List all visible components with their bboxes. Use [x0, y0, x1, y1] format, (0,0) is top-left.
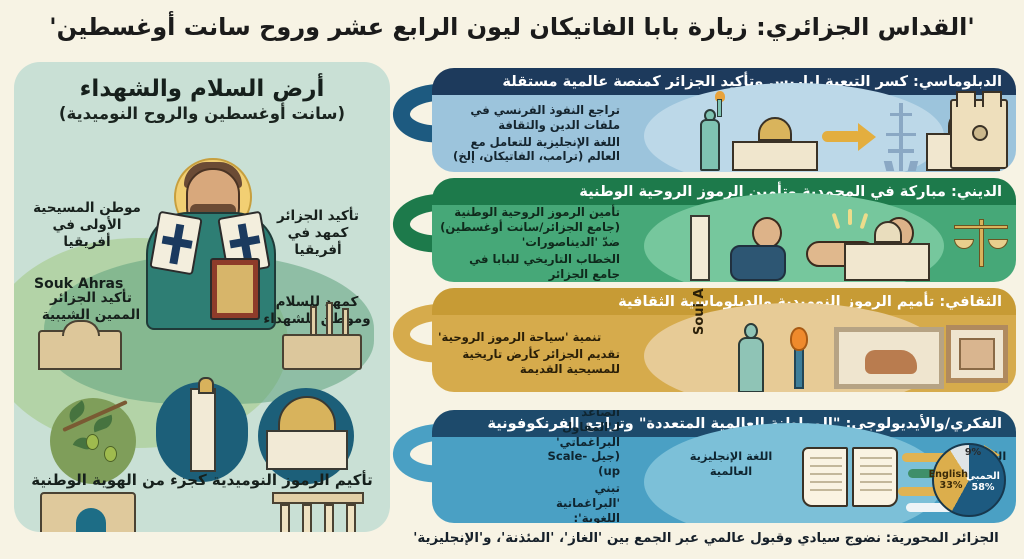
note-top-left: موطن المسيحية الأولى في أفريقيا [28, 200, 146, 251]
bottom-caption: الجزائر المحورية: نضوج سيادي وقبول عالمي… [392, 523, 1020, 553]
arrow-right-icon [822, 121, 878, 151]
panel-diplomatic[interactable]: الدبلوماسي: كسر التبعية لباريس وتأكيد ال… [432, 68, 1016, 172]
imam-figure-icon [730, 217, 800, 281]
left-feature-card: أرض السلام والشهداء (سانت أوغسطين والروح… [14, 62, 390, 532]
panel-religious[interactable]: الديني: مباركة في المحمدية وتأمين الرموز… [432, 178, 1016, 282]
note-top-right: تأكيد الجزائر كمهد في أفريقيا [262, 208, 374, 259]
note-bottom-left: تأكيد الجزائر الممين الشيبية [30, 290, 152, 324]
olive-fruit-icon [86, 434, 99, 450]
minaret-icon [190, 388, 216, 472]
left-card-subheading: (سانت أوغسطين والروح النوميدية) [14, 104, 390, 123]
eiffel-tower-icon [884, 103, 918, 171]
panel-ideological[interactable]: الفكري/والأيديولوجي: "المواطنة العالمية … [432, 410, 1016, 523]
pie-slice-label-1: English33% [934, 469, 968, 491]
scales-of-justice-icon [954, 215, 1008, 273]
vertical-place-label: Soui Ahas [692, 288, 707, 335]
bullet: تحول الجيل الصاعد لـ'المقاول البراغماتي'… [528, 410, 620, 479]
holy-book-icon [210, 258, 260, 320]
basilica-base [266, 430, 348, 470]
bullet: تبني 'البراغماتية اللغوية': الإنجليزية ل… [528, 481, 620, 523]
capitol-dome-icon [732, 117, 818, 171]
bullet: تراجع النفوذ الفرنسي في ملفات الدين والث… [438, 103, 620, 133]
roman-ruins-icon [282, 334, 362, 370]
page-title: 'القداس الجزائري: زيارة بابا الفاتيكان ل… [0, 4, 1024, 50]
ruin-column-icon [310, 306, 317, 336]
mosque-building-icon [38, 330, 122, 370]
ruin-column-icon [326, 302, 333, 336]
pie-chart-icon: الحمبي58% English33% 9% [932, 443, 1006, 517]
pie-slice-label-0: الحمبي58% [966, 471, 1000, 493]
bullet: تقديم الجزائر كأرض تاريخية للمسيحية القد… [438, 347, 620, 377]
bullet: تأمين الرموز الروحية الوطنية (جامع الجزا… [438, 205, 620, 249]
left-card-heading: أرض السلام والشهداء [14, 76, 390, 102]
left-card-footer-note: تأكيم الرموز النوميدية كجزء من الهوية ال… [14, 471, 390, 491]
torch-icon [788, 329, 810, 389]
roman-mosaic-icon [834, 327, 944, 389]
ruin-column-icon [342, 308, 349, 336]
vatican-basilica-icon [844, 221, 930, 281]
infographic-canvas: 'القداس الجزائري: زيارة بابا الفاتيكان ل… [0, 0, 1024, 559]
pie-slice-label-2: 9% [962, 447, 984, 458]
souk-market-gate-icon [40, 492, 136, 532]
statue-of-liberty-icon [692, 101, 728, 171]
ancient-coin-icon [946, 325, 1008, 383]
open-book-icon [802, 447, 898, 513]
roman-temple-icon [272, 492, 364, 532]
rose-window-icon [972, 125, 988, 141]
augustine-statue-icon [728, 319, 772, 392]
book-label-left: اللغة الإنجليزية العالمية [688, 449, 774, 479]
minaret-icon [690, 215, 710, 281]
bullet: الخطاب التاريخي للبابا في جامع الجزائر [438, 252, 620, 282]
bullet: اللغة الإنجليزية للتعامل مع العالم (ترام… [438, 135, 620, 165]
panel-cultural[interactable]: الثقافي: تأميم الرموز النوميدية والدبلوم… [432, 288, 1016, 392]
note-bottom-right: كمهد للسلام وموطن للشهداء [262, 294, 372, 328]
olive-fruit-icon [104, 446, 117, 462]
bullet: تنمية 'سياحة الرموز الروحية' [438, 330, 601, 345]
lion-figure [865, 350, 917, 374]
